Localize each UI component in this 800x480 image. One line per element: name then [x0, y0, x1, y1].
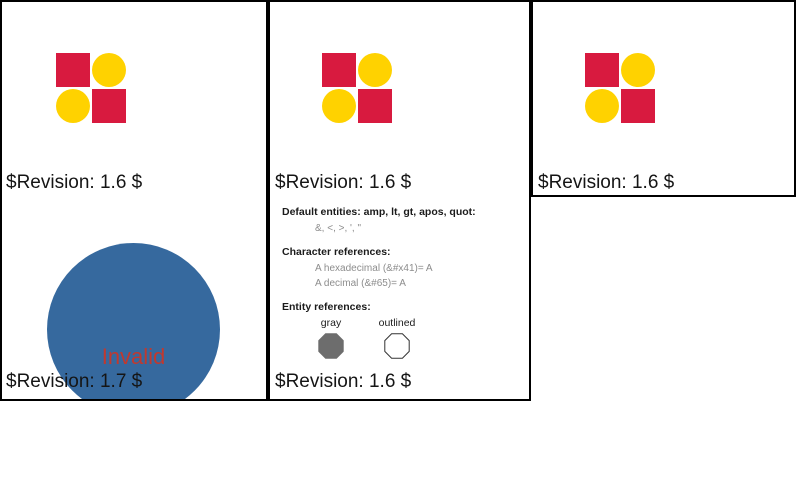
default-entities-values: &, <, >, ', ": [282, 222, 530, 236]
panel-left: $Revision: 1.6 $ Invalid $Revision: 1.7 …: [0, 0, 268, 401]
octagon-gray-icon: [318, 333, 344, 359]
logo-cell-red-square-top-left: [585, 53, 619, 87]
logo-cell-yellow-circle-top-right: [92, 53, 126, 87]
logo-cell-yellow-circle-top-right: [621, 53, 655, 87]
revision-text-middle-bottom: $Revision: 1.6 $: [275, 371, 411, 393]
logo-cell-yellow-circle-bottom-left: [585, 89, 619, 123]
entity-references-heading: Entity references:: [282, 301, 530, 314]
logo-middle: [322, 53, 394, 125]
logo-right: [585, 53, 657, 125]
logo-cell-red-square-top-left: [322, 53, 356, 87]
character-reference-decimal: A decimal (&#65)= A: [282, 277, 530, 291]
logo-cell-yellow-circle-bottom-left: [322, 89, 356, 123]
panel-right: $Revision: 1.6 $: [531, 0, 796, 197]
revision-text-right-top: $Revision: 1.6 $: [538, 172, 674, 194]
character-references-heading: Character references:: [282, 246, 530, 259]
spacer: [282, 292, 530, 301]
logo-cell-yellow-circle-bottom-left: [56, 89, 90, 123]
entity-documentation-block: Default entities: amp, lt, gt, apos, quo…: [282, 206, 530, 369]
entity-shape-outlined: outlined: [364, 317, 430, 359]
logo-cell-red-square-bottom-right: [92, 89, 126, 123]
entity-reference-shapes: gray outlined: [282, 317, 530, 369]
revision-text-middle-top: $Revision: 1.6 $: [275, 172, 411, 194]
octagon-outlined-icon: [384, 333, 410, 359]
page-root: { "logo": { "name": "red-yellow-checker-…: [0, 0, 800, 480]
entity-shape-gray-label: gray: [304, 317, 358, 330]
logo-cell-red-square-bottom-right: [358, 89, 392, 123]
entity-shape-gray: gray: [304, 317, 358, 359]
logo-cell-yellow-circle-top-right: [358, 53, 392, 87]
revision-text-left-top: $Revision: 1.6 $: [6, 172, 142, 194]
default-entities-heading: Default entities: amp, lt, gt, apos, quo…: [282, 206, 530, 219]
panel-middle: $Revision: 1.6 $ Default entities: amp, …: [268, 0, 531, 401]
spacer: [282, 237, 530, 246]
revision-text-left-bottom: $Revision: 1.7 $: [6, 371, 142, 393]
logo-left: [56, 53, 128, 125]
logo-cell-red-square-bottom-right: [621, 89, 655, 123]
character-reference-hexadecimal: A hexadecimal (&#x41)= A: [282, 262, 530, 276]
logo-cell-red-square-top-left: [56, 53, 90, 87]
entity-shape-outlined-label: outlined: [364, 317, 430, 330]
